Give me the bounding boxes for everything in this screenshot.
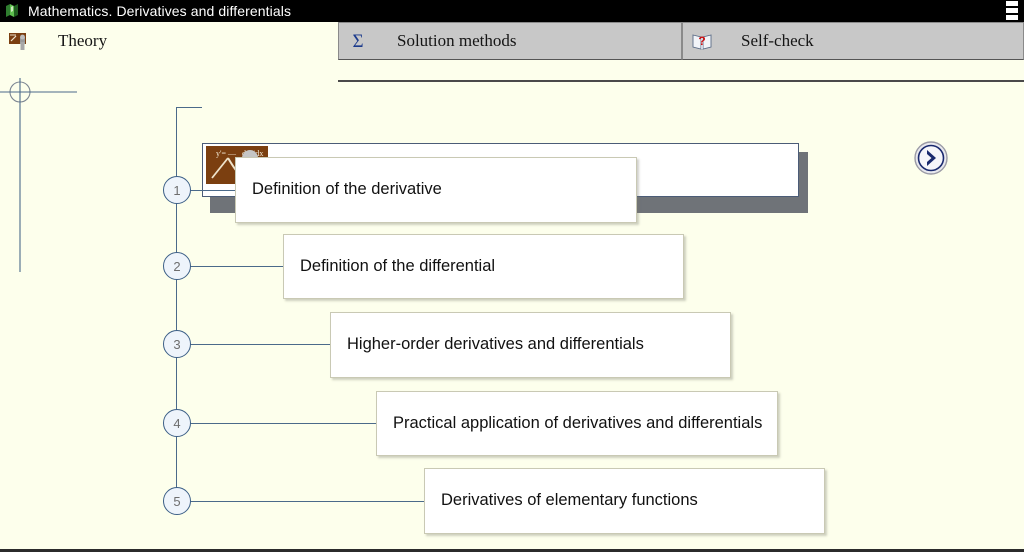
tab-solution-methods-label: Solution methods xyxy=(397,31,516,51)
tab-self-check-label: Self-check xyxy=(741,31,814,51)
outline-node-4[interactable]: 4 xyxy=(163,409,191,437)
connector-3 xyxy=(190,344,332,345)
book-question-icon: ? xyxy=(691,30,713,52)
tab-solution-methods[interactable]: Σ Solution methods xyxy=(338,22,682,60)
close-button[interactable] xyxy=(1006,15,1018,20)
maximize-button[interactable] xyxy=(1006,8,1018,13)
outline-item-5-label: Derivatives of elementary functions xyxy=(425,490,708,511)
window-controls[interactable] xyxy=(1006,1,1018,20)
tree-trunk-top-stub xyxy=(176,107,202,108)
cube-blocks-icon xyxy=(5,3,21,19)
outline-node-3-number: 3 xyxy=(173,337,180,352)
outline-item-1-label: Definition of the derivative xyxy=(236,179,452,200)
outline-item-2-label: Definition of the differential xyxy=(284,256,505,277)
outline-node-4-number: 4 xyxy=(173,416,180,431)
outline-item-5[interactable]: Derivatives of elementary functions xyxy=(424,468,825,534)
tab-self-check[interactable]: ? Self-check xyxy=(682,22,1024,60)
connector-1 xyxy=(190,190,236,191)
outline-node-1-number: 1 xyxy=(173,183,180,198)
svg-text:y'= —: y'= — xyxy=(216,149,237,158)
connector-2 xyxy=(190,266,284,267)
application-window: Mathematics. Derivatives and differentia… xyxy=(0,0,1024,552)
outline-node-1[interactable]: 1 xyxy=(163,176,191,204)
connector-4 xyxy=(190,423,378,424)
outline-node-5-number: 5 xyxy=(173,494,180,509)
title-bar: Mathematics. Derivatives and differentia… xyxy=(0,0,1024,22)
teacher-blackboard-icon xyxy=(8,30,30,52)
next-page-button[interactable] xyxy=(913,140,949,176)
tree-trunk xyxy=(176,107,177,503)
outline-node-2[interactable]: 2 xyxy=(163,252,191,280)
svg-text:Σ: Σ xyxy=(352,31,363,52)
outline-node-5[interactable]: 5 xyxy=(163,487,191,515)
window-title: Mathematics. Derivatives and differentia… xyxy=(28,3,291,19)
connector-5 xyxy=(190,501,425,502)
minimize-button[interactable] xyxy=(1006,1,1018,6)
outline-item-3-label: Higher-order derivatives and differentia… xyxy=(331,334,654,355)
outline-item-4[interactable]: Practical application of derivatives and… xyxy=(376,391,778,456)
theory-outline-panel: Theory y'= — dy ⁄ dx xyxy=(0,62,1024,552)
svg-text:?: ? xyxy=(698,34,705,48)
tab-bar: Theory Σ Solution methods ? Self-check xyxy=(0,22,1024,62)
outline-node-3[interactable]: 3 xyxy=(163,330,191,358)
outline-node-2-number: 2 xyxy=(173,259,180,274)
tab-theory[interactable]: Theory xyxy=(0,22,338,60)
sigma-icon: Σ xyxy=(347,30,369,52)
outline-item-1[interactable]: Definition of the derivative xyxy=(235,157,637,223)
outline-item-3[interactable]: Higher-order derivatives and differentia… xyxy=(330,312,731,378)
tab-theory-label: Theory xyxy=(58,31,107,51)
outline-item-4-label: Practical application of derivatives and… xyxy=(377,413,772,434)
outline-item-2[interactable]: Definition of the differential xyxy=(283,234,684,299)
